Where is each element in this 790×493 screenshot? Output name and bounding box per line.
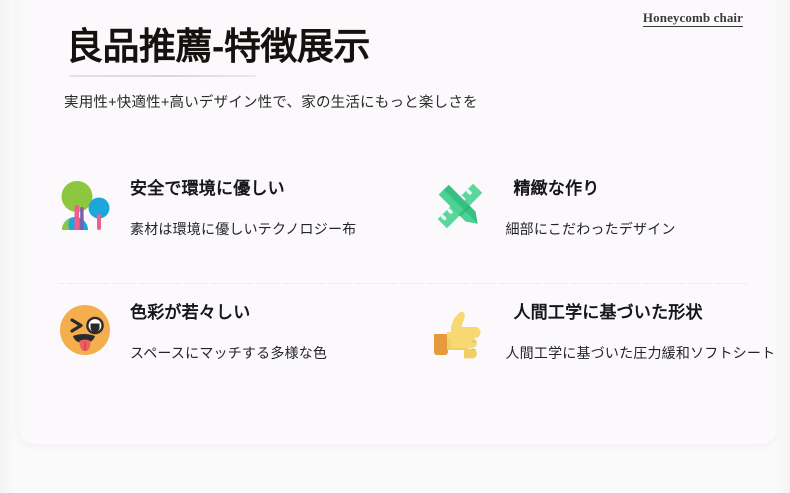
feature-item-color: 色彩が若々しい スペースにマッチする多様な色 [0, 284, 381, 408]
thumbs-up-icon [431, 301, 489, 359]
feature-item-craft: 精緻な作り 細部にこだわったデザイン [381, 160, 790, 284]
feature-item-eco: 安全で環境に優しい 素材は環境に優しいテクノロジー布 [0, 160, 381, 284]
trees-icon [56, 177, 114, 235]
feature-text: 色彩が若々しい スペースにマッチする多様な色 [130, 284, 327, 363]
feature-grid: 安全で環境に優しい 素材は環境に優しいテクノロジー布 [0, 160, 790, 408]
feature-heading: 色彩が若々しい [130, 302, 327, 324]
winking-face-icon [56, 301, 114, 359]
brand-label: Honeycomb chair [643, 11, 743, 27]
feature-text: 人間工学に基づいた形状 人間工学に基づいた圧力緩和ソフトシート [513, 284, 775, 363]
feature-heading: 人間工学に基づいた形状 [513, 302, 775, 324]
feature-description: スペースにマッチする多様な色 [130, 344, 327, 363]
feature-text: 精緻な作り 細部にこだわったデザイン [513, 160, 675, 239]
title-divider [69, 75, 256, 77]
page-title: 良品推薦-特徴展示 [66, 23, 370, 71]
feature-row: 色彩が若々しい スペースにマッチする多様な色 [0, 284, 790, 408]
product-feature-page: Honeycomb chair 良品推薦-特徴展示 実用性+快適性+高いデザイン… [0, 0, 790, 493]
feature-description: 素材は環境に優しいテクノロジー布 [130, 220, 356, 239]
feature-row: 安全で環境に優しい 素材は環境に優しいテクノロジー布 [0, 160, 790, 284]
feature-text: 安全で環境に優しい 素材は環境に優しいテクノロジー布 [130, 160, 356, 239]
page-subtitle: 実用性+快適性+高いデザイン性で、家の生活にもっと楽しさを [64, 93, 478, 113]
feature-heading: 精緻な作り [513, 178, 675, 200]
feature-item-ergonomic: 人間工学に基づいた形状 人間工学に基づいた圧力緩和ソフトシート [381, 284, 790, 408]
feature-heading: 安全で環境に優しい [130, 178, 356, 200]
pen-ruler-icon [431, 177, 489, 235]
feature-description: 細部にこだわったデザイン [505, 220, 675, 239]
feature-description: 人間工学に基づいた圧力緩和ソフトシート [505, 344, 775, 363]
